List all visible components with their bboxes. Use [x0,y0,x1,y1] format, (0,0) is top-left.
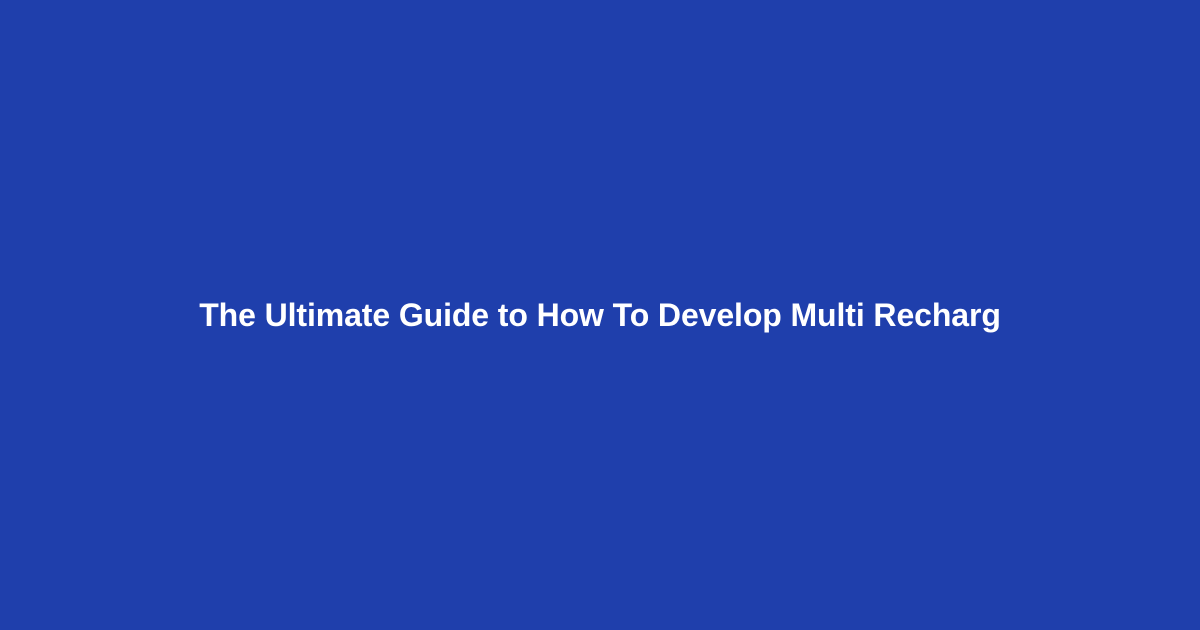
card-content-container: The Ultimate Guide to How To Develop Mul… [0,295,1200,335]
social-share-card: The Ultimate Guide to How To Develop Mul… [0,0,1200,630]
card-title: The Ultimate Guide to How To Develop Mul… [199,295,1001,335]
